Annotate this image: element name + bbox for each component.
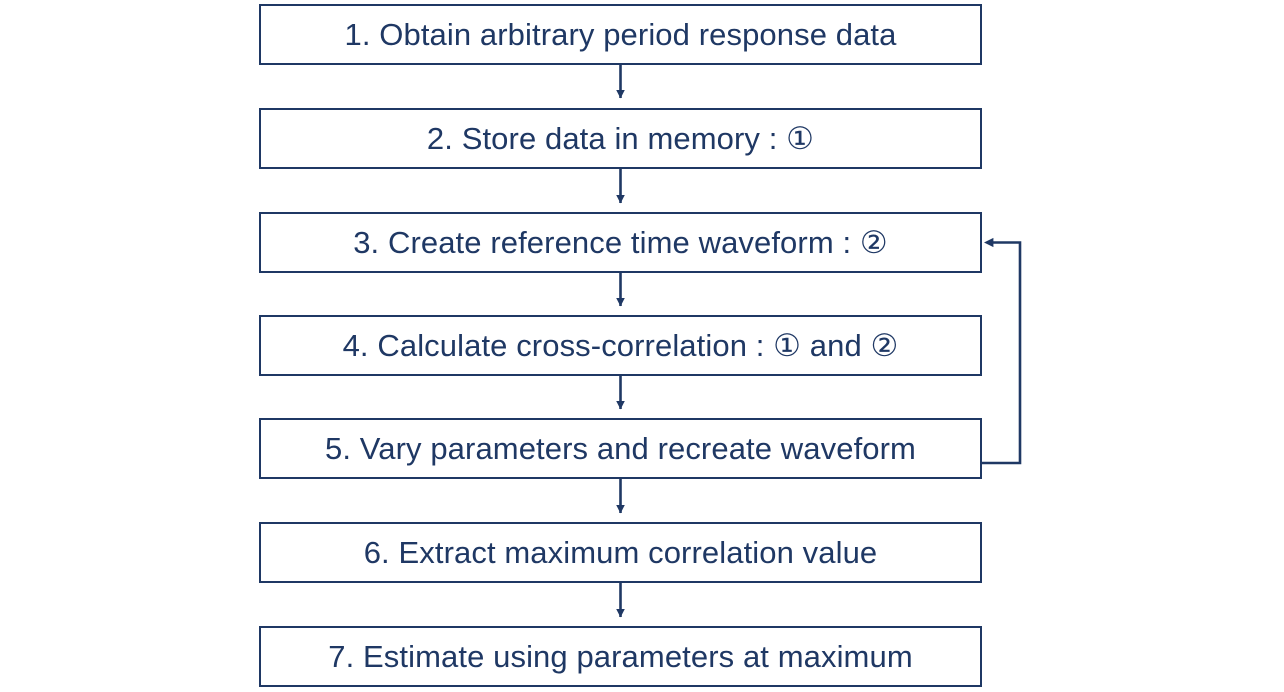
flowchart-canvas: 1. Obtain arbitrary period response data… [0, 0, 1284, 692]
step-7-box[interactable]: 7. Estimate using parameters at maximum [259, 626, 982, 687]
step-4-box[interactable]: 4. Calculate cross-correlation : ① and ② [259, 315, 982, 376]
step-4-label: 4. Calculate cross-correlation : ① and ② [343, 330, 899, 361]
feedback-loop-5-to-3 [982, 243, 1020, 464]
step-7-label: 7. Estimate using parameters at maximum [328, 641, 913, 672]
step-2-box[interactable]: 2. Store data in memory : ① [259, 108, 982, 169]
step-1-label: 1. Obtain arbitrary period response data [345, 19, 897, 50]
step-3-box[interactable]: 3. Create reference time waveform : ② [259, 212, 982, 273]
step-3-label: 3. Create reference time waveform : ② [353, 227, 888, 258]
step-5-box[interactable]: 5. Vary parameters and recreate waveform [259, 418, 982, 479]
step-1-box[interactable]: 1. Obtain arbitrary period response data [259, 4, 982, 65]
step-6-label: 6. Extract maximum correlation value [364, 537, 878, 568]
step-6-box[interactable]: 6. Extract maximum correlation value [259, 522, 982, 583]
step-2-label: 2. Store data in memory : ① [427, 123, 814, 154]
step-5-label: 5. Vary parameters and recreate waveform [325, 433, 916, 464]
